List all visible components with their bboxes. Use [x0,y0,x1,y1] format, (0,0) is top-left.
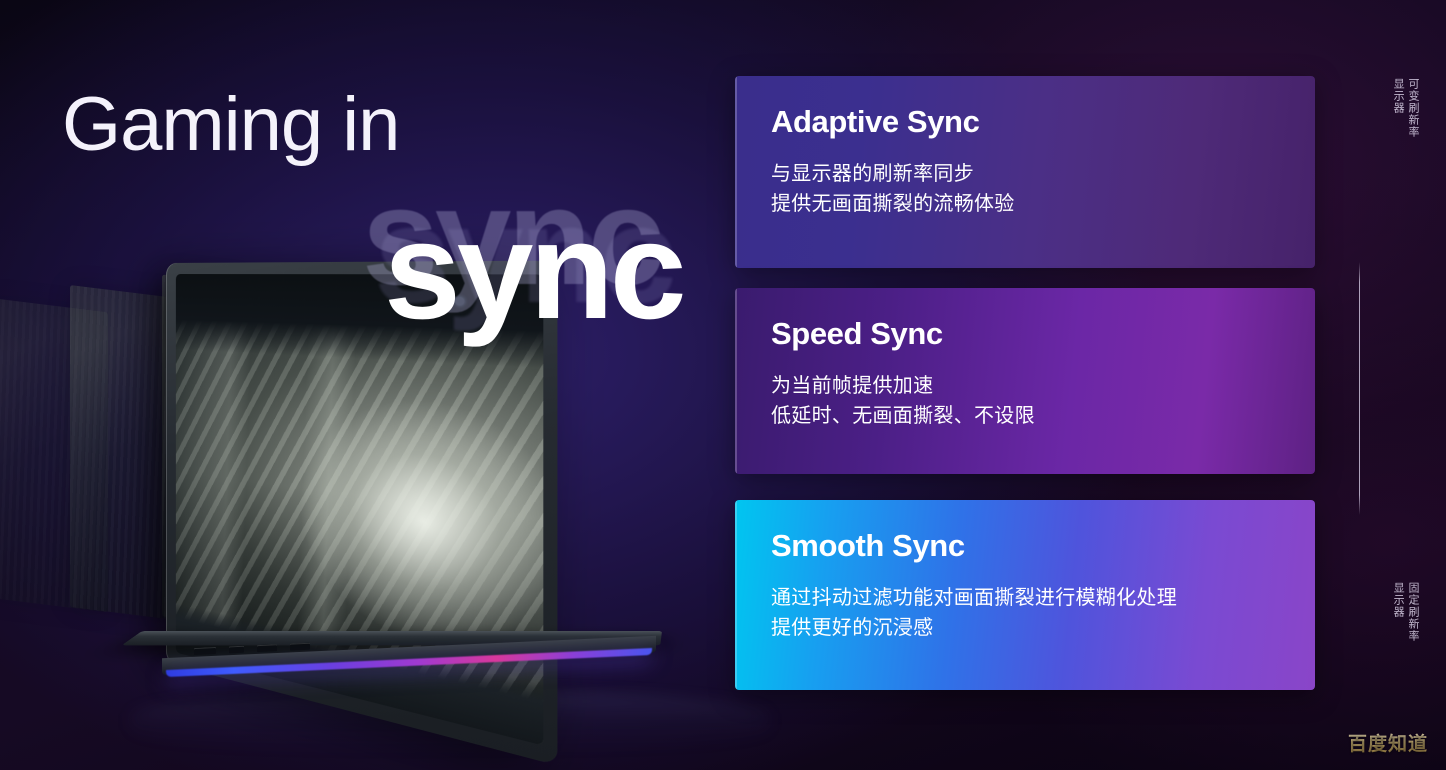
port-usb-c-icon [229,645,244,653]
card-speed-sync-line-1: 为当前帧提供加速 [771,371,1315,401]
slide-root: Gaming in sync sync sync [0,0,1446,770]
feature-card-list: Adaptive Sync 与显示器的刷新率同步 提供无画面撕裂的流畅体验 Sp… [735,76,1315,690]
card-adaptive-sync[interactable]: Adaptive Sync 与显示器的刷新率同步 提供无画面撕裂的流畅体验 [735,76,1315,268]
side-divider-rule [1359,262,1360,515]
headline-line-2: sync [384,202,683,340]
port-hdmi-icon [194,646,216,654]
card-adaptive-sync-line-2: 提供无画面撕裂的流畅体验 [771,189,1315,219]
card-speed-sync-title: Speed Sync [771,318,1315,349]
port-ethernet-icon [290,642,310,650]
headline-block: Gaming in sync sync sync [62,86,702,320]
card-adaptive-sync-title: Adaptive Sync [771,106,1315,137]
card-speed-sync[interactable]: Speed Sync 为当前帧提供加速 低延时、无画面撕裂、不设限 [735,288,1315,474]
watermark: 百度知道 [1348,729,1428,756]
card-speed-sync-line-2: 低延时、无画面撕裂、不设限 [771,401,1315,431]
card-smooth-sync[interactable]: Smooth Sync 通过抖动过滤功能对画面撕裂进行模糊化处理 提供更好的沉浸… [735,500,1315,690]
card-smooth-sync-title: Smooth Sync [771,530,1315,561]
side-label-fixed-refresh: 固定刷新率 显示器 [1390,582,1420,642]
headline-sync-block: sync sync sync [62,170,702,320]
port-usb-a-icon [257,644,277,652]
card-adaptive-sync-line-1: 与显示器的刷新率同步 [771,159,1315,189]
side-label-variable-refresh: 可变刷新率 显示器 [1390,78,1420,138]
card-smooth-sync-line-2: 提供更好的沉浸感 [771,613,1315,643]
headline-line-1: Gaming in [62,86,702,164]
card-smooth-sync-line-1: 通过抖动过滤功能对画面撕裂进行模糊化处理 [771,583,1315,613]
